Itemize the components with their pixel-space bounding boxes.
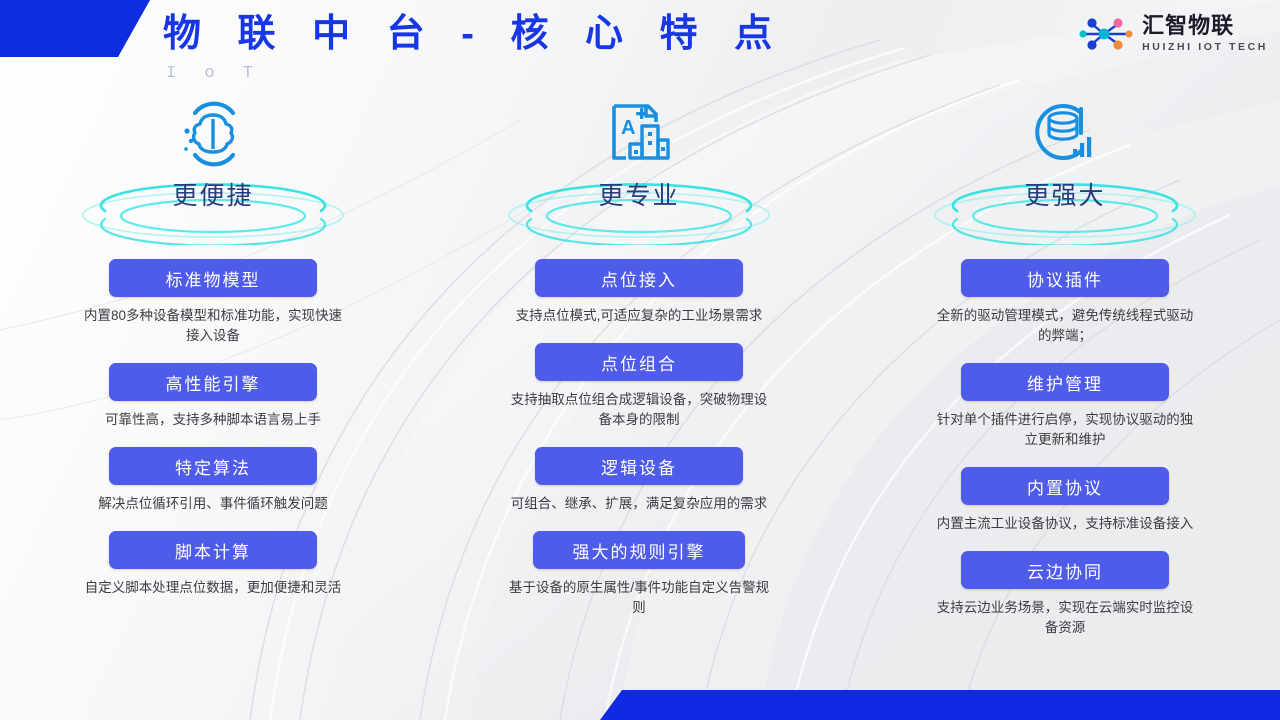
feature-desc: 内置80多种设备模型和标准功能，实现快速接入设备 [84,306,342,346]
feature-pill[interactable]: 云边协同 [961,551,1169,589]
brand-logo: 汇智物联 HUIZHI IOT TECH [1078,14,1268,54]
feature-list-3: 协议插件 全新的驱动管理模式，避免传统线程式驱动的弊端； 维护管理 针对单个插件… [852,259,1278,655]
feature-pill[interactable]: 协议插件 [961,259,1169,297]
feature-pill[interactable]: 高性能引擎 [109,363,317,401]
feature-pill[interactable]: 点位组合 [535,343,743,381]
feature-desc: 自定义脚本处理点位数据，更加便捷和灵活 [84,578,342,598]
feature-pill[interactable]: 标准物模型 [109,259,317,297]
feature-desc: 支持云边业务场景，实现在云端实时监控设备资源 [934,598,1196,638]
feature-desc: 解决点位循环引用、事件循环触发问题 [84,494,342,514]
brain-gear-icon [175,95,251,173]
feature-desc: 内置主流工业设备协议，支持标准设备接入 [934,514,1196,534]
feature-item: 点位接入 支持点位模式,可适应复杂的工业场景需求 [426,259,852,343]
feature-desc: 可组合、继承、扩展，满足复杂应用的需求 [505,494,773,514]
feature-column-3: 更强大 协议插件 全新的驱动管理模式，避免传统线程式驱动的弊端； 维护管理 针对… [852,95,1278,655]
column-heading-2: 更专业 [489,175,789,217]
page-subtitle: I o T [166,64,262,83]
database-chart-icon [1029,95,1101,173]
feature-pill[interactable]: 维护管理 [961,363,1169,401]
feature-pill[interactable]: 脚本计算 [109,531,317,569]
feature-list-1: 标准物模型 内置80多种设备模型和标准功能，实现快速接入设备 高性能引擎 可靠性… [0,259,426,615]
feature-item: 点位组合 支持抽取点位组合成逻辑设备，突破物理设备本身的限制 [426,343,852,447]
molecule-network-icon [1078,14,1134,54]
feature-item: 强大的规则引擎 基于设备的原生属性/事件功能自定义告警规则 [426,531,852,635]
feature-item: 协议插件 全新的驱动管理模式，避免传统线程式驱动的弊端； [852,259,1278,363]
feature-pill[interactable]: 内置协议 [961,467,1169,505]
feature-item: 云边协同 支持云边业务场景，实现在云端实时监控设备资源 [852,551,1278,655]
feature-item: 标准物模型 内置80多种设备模型和标准功能，实现快速接入设备 [0,259,426,363]
feature-column-1: 更便捷 标准物模型 内置80多种设备模型和标准功能，实现快速接入设备 高性能引擎… [0,95,426,655]
orbit-ring-2: 更专业 [489,175,789,245]
feature-desc: 可靠性高，支持多种脚本语言易上手 [84,410,342,430]
feature-item: 逻辑设备 可组合、继承、扩展，满足复杂应用的需求 [426,447,852,531]
feature-column-2: A [426,95,852,655]
feature-columns: 更便捷 标准物模型 内置80多种设备模型和标准功能，实现快速接入设备 高性能引擎… [0,95,1280,655]
column-heading-1: 更便捷 [63,175,363,217]
feature-item: 特定算法 解决点位循环引用、事件循环触发问题 [0,447,426,531]
orbit-ring-1: 更便捷 [63,175,363,245]
svg-text:A: A [621,117,635,139]
feature-pill[interactable]: 强大的规则引擎 [533,531,745,569]
feature-item: 脚本计算 自定义脚本处理点位数据，更加便捷和灵活 [0,531,426,615]
feature-list-2: 点位接入 支持点位模式,可适应复杂的工业场景需求 点位组合 支持抽取点位组合成逻… [426,259,852,635]
feature-desc: 基于设备的原生属性/事件功能自定义告警规则 [505,578,773,618]
feature-desc: 支持抽取点位组合成逻辑设备，突破物理设备本身的限制 [505,390,773,430]
feature-item: 高性能引擎 可靠性高，支持多种脚本语言易上手 [0,363,426,447]
column-heading-3: 更强大 [915,175,1215,217]
orbit-ring-3: 更强大 [915,175,1215,245]
brand-name-en: HUIZHI IOT TECH [1142,42,1268,53]
feature-item: 内置协议 内置主流工业设备协议，支持标准设备接入 [852,467,1278,551]
feature-desc: 针对单个插件进行启停，实现协议驱动的独立更新和维护 [934,410,1196,450]
document-grade-building-icon: A [604,95,674,173]
feature-pill[interactable]: 特定算法 [109,447,317,485]
feature-desc: 支持点位模式,可适应复杂的工业场景需求 [505,306,773,326]
page-title: 物 联 中 台 - 核 心 特 点 [163,12,785,56]
brand-name-cn: 汇智物联 [1142,15,1268,37]
feature-pill[interactable]: 点位接入 [535,259,743,297]
feature-pill[interactable]: 逻辑设备 [535,447,743,485]
footer-accent-bar [600,690,1280,720]
feature-desc: 全新的驱动管理模式，避免传统线程式驱动的弊端； [934,306,1196,346]
slide-canvas: 物 联 中 台 - 核 心 特 点 I o T 汇智物联 HUIZHI IOT … [0,0,1280,720]
feature-item: 维护管理 针对单个插件进行启停，实现协议驱动的独立更新和维护 [852,363,1278,467]
